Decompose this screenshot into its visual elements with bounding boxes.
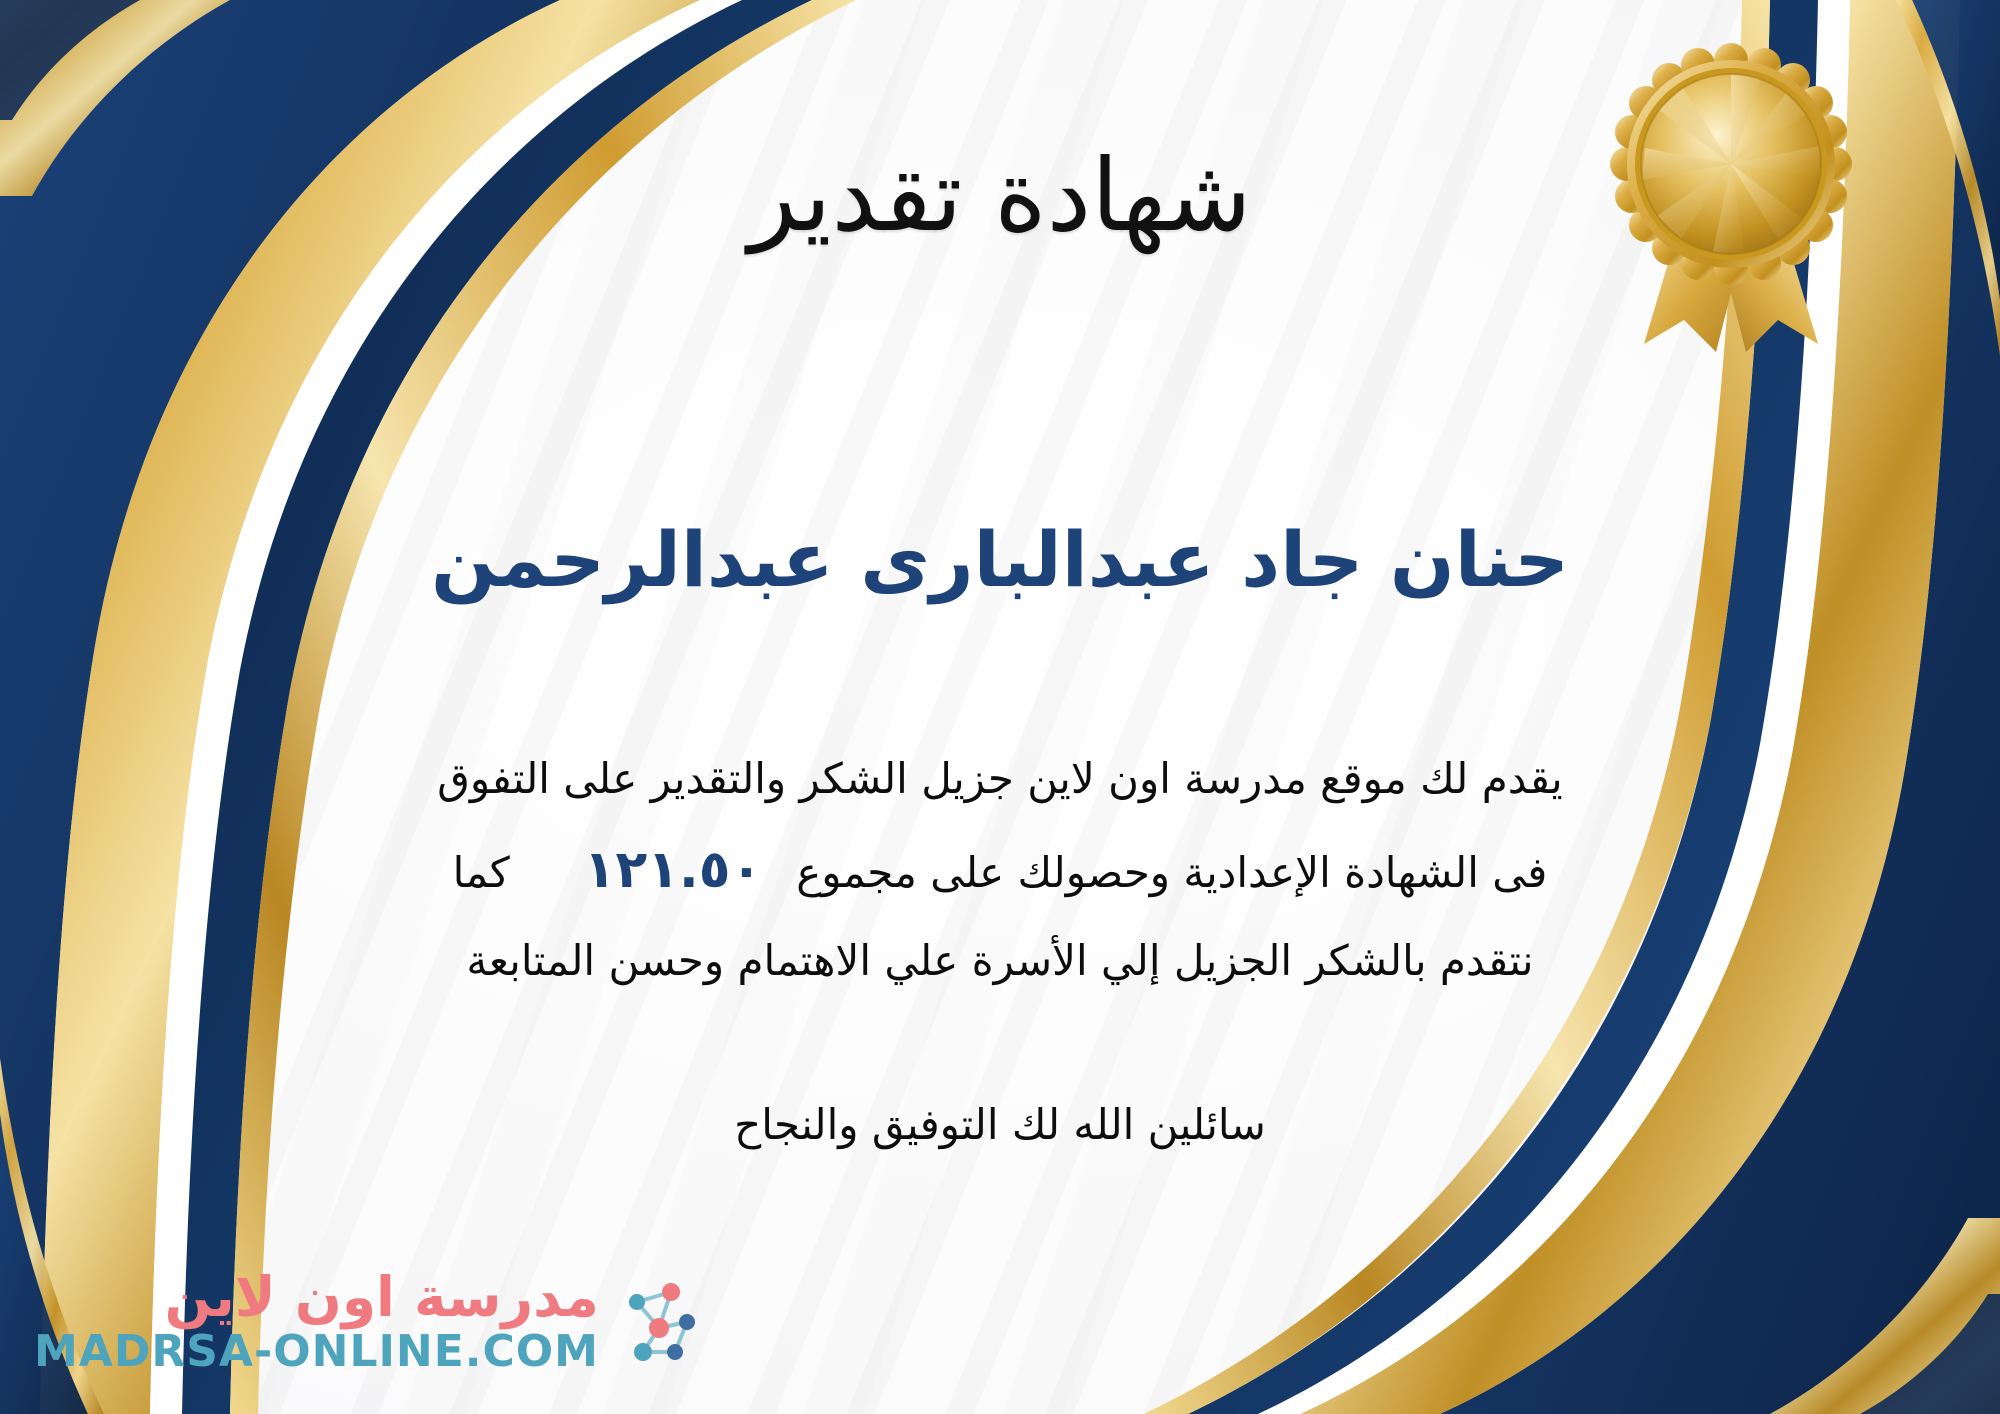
body-line-1: يقدم لك موقع مدرسة اون لاين جزيل الشكر و… [60, 740, 1940, 818]
body-line-3: نتقدم بالشكر الجزيل إلي الأسرة علي الاهت… [60, 922, 1940, 1000]
brand-name-arabic: مدرسة اون لاين [165, 1268, 599, 1327]
total-score-value: ١٢١.٥٠ [550, 840, 796, 900]
body-line-2: فى الشهادة الإعدادية وحصولك على مجموع١٢١… [60, 822, 1940, 918]
network-nodes-icon [613, 1276, 705, 1368]
body-line-2-prefix: فى الشهادة الإعدادية وحصولك على مجموع [796, 848, 1547, 897]
certificate-page: شهادة تقدير حنان جاد عبدالبارى عبدالرحمن… [0, 0, 2000, 1414]
certificate-body: يقدم لك موقع مدرسة اون لاين جزيل الشكر و… [60, 740, 1940, 1000]
brand-text-block: مدرسة اون لاين MADRSA-ONLINE.COM [34, 1268, 599, 1376]
recipient-name: حنان جاد عبدالبارى عبدالرحمن [0, 512, 2000, 607]
brand-logo[interactable]: مدرسة اون لاين MADRSA-ONLINE.COM [34, 1268, 705, 1376]
certificate-title: شهادة تقدير [0, 138, 2000, 253]
brand-website: MADRSA-ONLINE.COM [34, 1328, 599, 1376]
body-line-2-suffix: كما [453, 848, 550, 897]
closing-line: سائلين الله لك التوفيق والنجاح [0, 1100, 2000, 1149]
